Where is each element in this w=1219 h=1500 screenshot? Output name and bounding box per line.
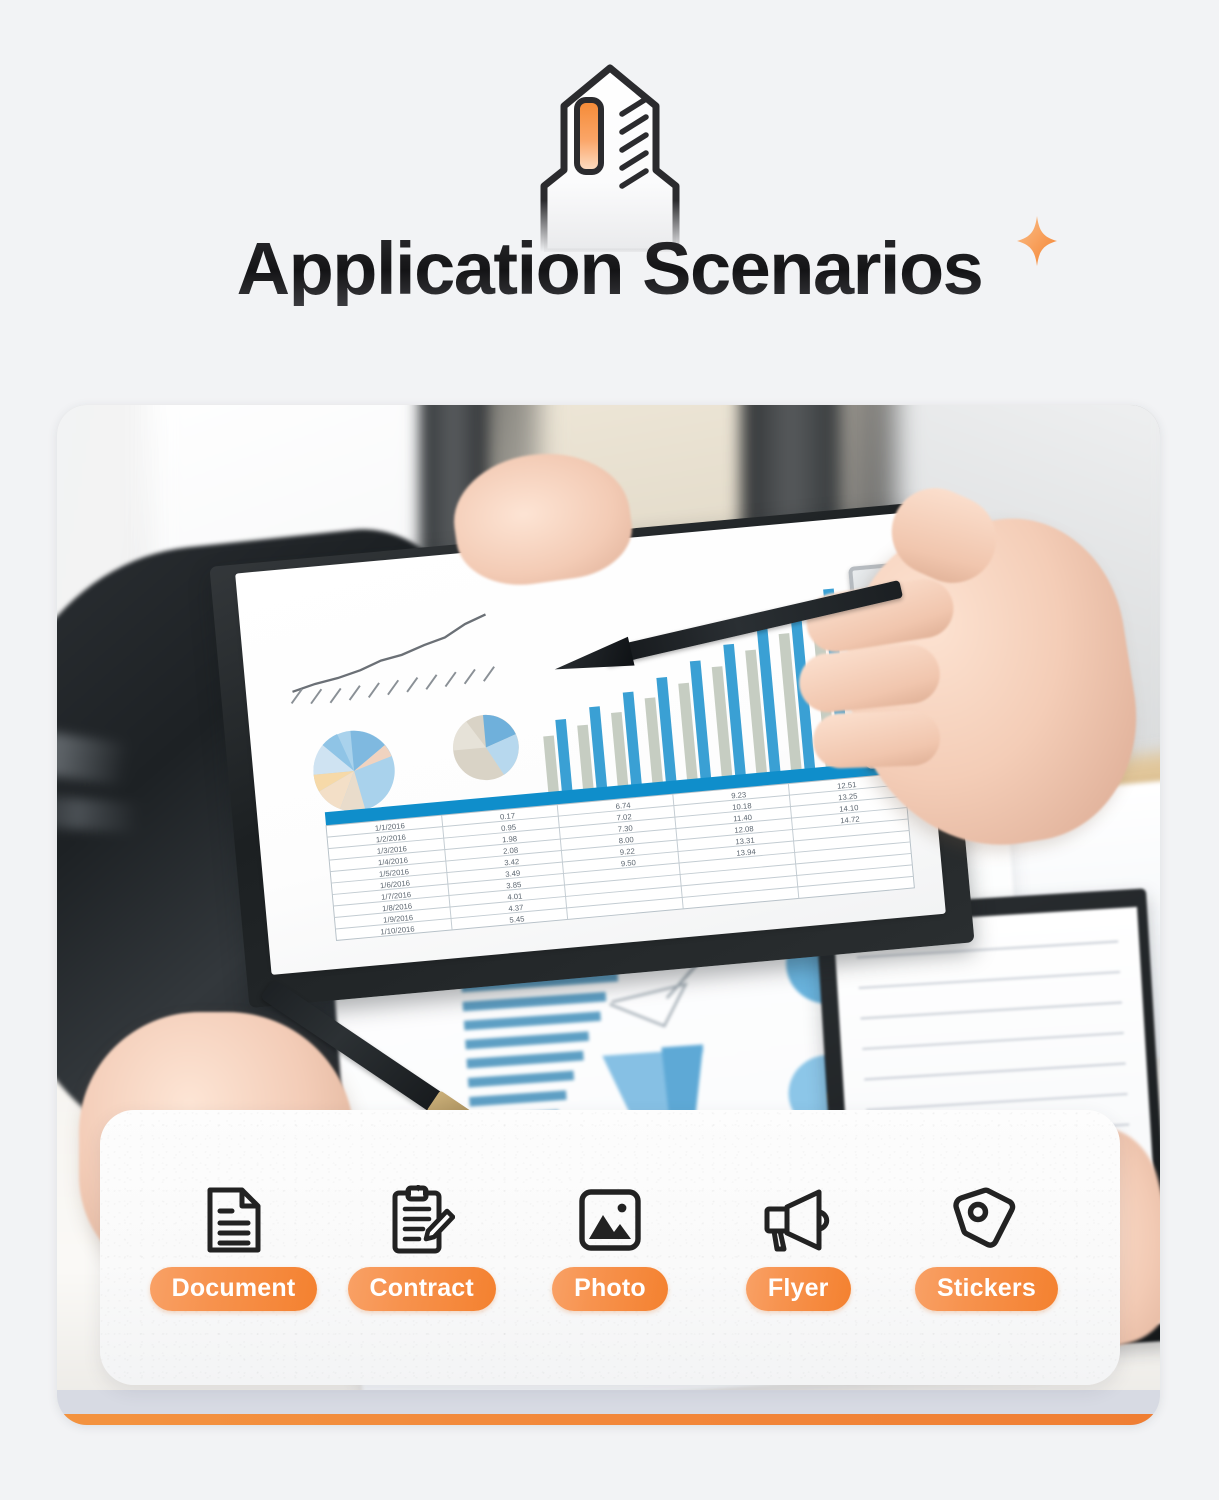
svg-text:7.02: 7.02 [617, 812, 633, 822]
feature-photo[interactable]: Photo [523, 1184, 698, 1311]
image-icon [574, 1184, 646, 1256]
photo-suit-highlight [57, 723, 129, 785]
price-tag-icon [951, 1184, 1023, 1256]
megaphone-icon [762, 1184, 834, 1256]
feature-label-stickers[interactable]: Stickers [915, 1267, 1058, 1311]
svg-text:9.50: 9.50 [621, 858, 637, 868]
svg-text:13.94: 13.94 [736, 847, 757, 858]
svg-text:12.08: 12.08 [734, 824, 754, 835]
clipboard-pencil-icon [386, 1184, 458, 1256]
sparkle-icon [1015, 214, 1059, 268]
svg-text:5.45: 5.45 [509, 914, 525, 924]
svg-text:0.95: 0.95 [501, 823, 517, 833]
svg-text:13.31: 13.31 [735, 836, 755, 847]
svg-text:6.74: 6.74 [616, 800, 632, 810]
feature-flyer[interactable]: Flyer [711, 1184, 886, 1311]
svg-text:4.37: 4.37 [508, 903, 524, 913]
page-title-row: Application Scenarios [0, 232, 1219, 306]
feature-label-contract[interactable]: Contract [348, 1267, 496, 1311]
photo-finger [812, 710, 941, 770]
svg-text:11.40: 11.40 [733, 813, 752, 824]
page-title: Application Scenarios [237, 232, 983, 306]
scenario-feature-card: Document Contract [100, 1110, 1120, 1385]
photo-suit-highlight [57, 794, 139, 833]
svg-text:4.01: 4.01 [507, 891, 523, 901]
svg-text:9.22: 9.22 [620, 846, 636, 856]
feature-contract[interactable]: Contract [334, 1184, 509, 1311]
svg-text:3.85: 3.85 [506, 880, 522, 890]
scenario-feature-list: Document Contract [100, 1110, 1120, 1385]
feature-document[interactable]: Document [146, 1184, 321, 1311]
feature-label-flyer[interactable]: Flyer [746, 1267, 851, 1311]
svg-text:9.23: 9.23 [731, 790, 747, 800]
feature-label-photo[interactable]: Photo [552, 1267, 668, 1311]
feature-stickers[interactable]: Stickers [899, 1184, 1074, 1311]
svg-text:3.49: 3.49 [505, 868, 521, 878]
svg-text:3.42: 3.42 [504, 857, 520, 867]
svg-text:10.18: 10.18 [732, 801, 752, 812]
svg-text:8.00: 8.00 [619, 835, 635, 845]
svg-text:1.98: 1.98 [502, 834, 518, 844]
svg-text:0.17: 0.17 [500, 811, 516, 821]
feature-label-document[interactable]: Document [150, 1267, 318, 1311]
document-icon [198, 1184, 270, 1256]
svg-text:1/10/2016: 1/10/2016 [380, 924, 415, 936]
photo-person-hand-right [785, 484, 1138, 878]
svg-text:2.08: 2.08 [503, 845, 519, 855]
page-header: Application Scenarios [0, 0, 1219, 390]
svg-text:7.30: 7.30 [618, 823, 634, 833]
